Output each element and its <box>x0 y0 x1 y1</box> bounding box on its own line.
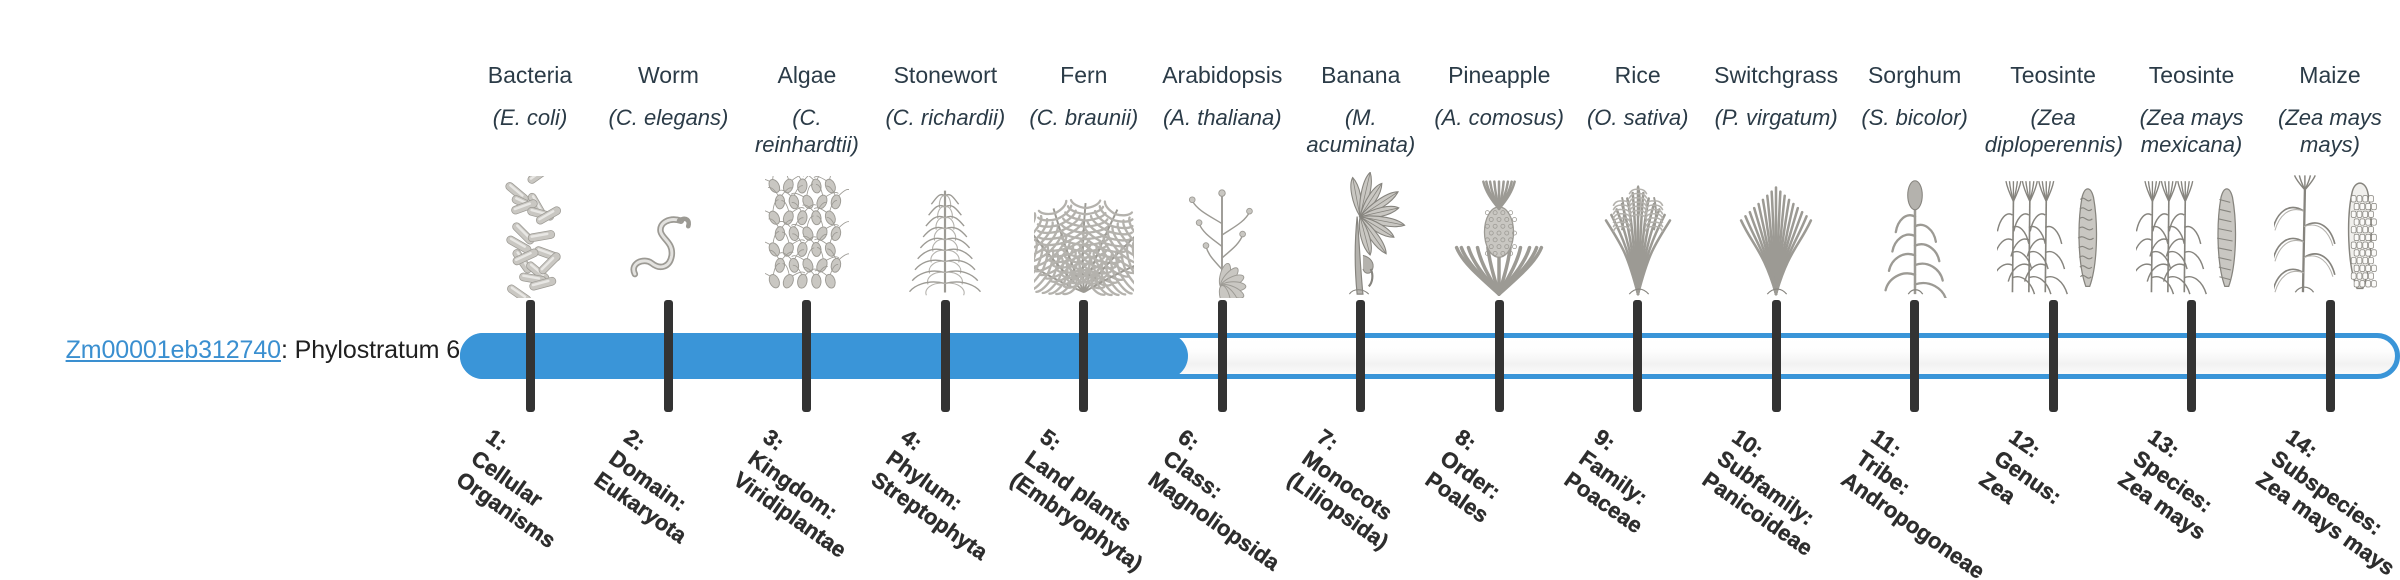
gene-label-separator: : <box>281 336 295 364</box>
stratum-labels: 1:CellularOrganisms2:Domain:Eukaryota3:K… <box>460 0 2400 580</box>
gene-phylostratum-label: Zm00001eb312740: Phylostratum 6 <box>0 336 460 365</box>
phylostratum-figure: Zm00001eb312740: Phylostratum 6 Bacteria… <box>0 0 2400 580</box>
gene-id-link[interactable]: Zm00001eb312740 <box>66 336 281 364</box>
gene-phylostratum-value: Phylostratum 6 <box>295 336 460 364</box>
